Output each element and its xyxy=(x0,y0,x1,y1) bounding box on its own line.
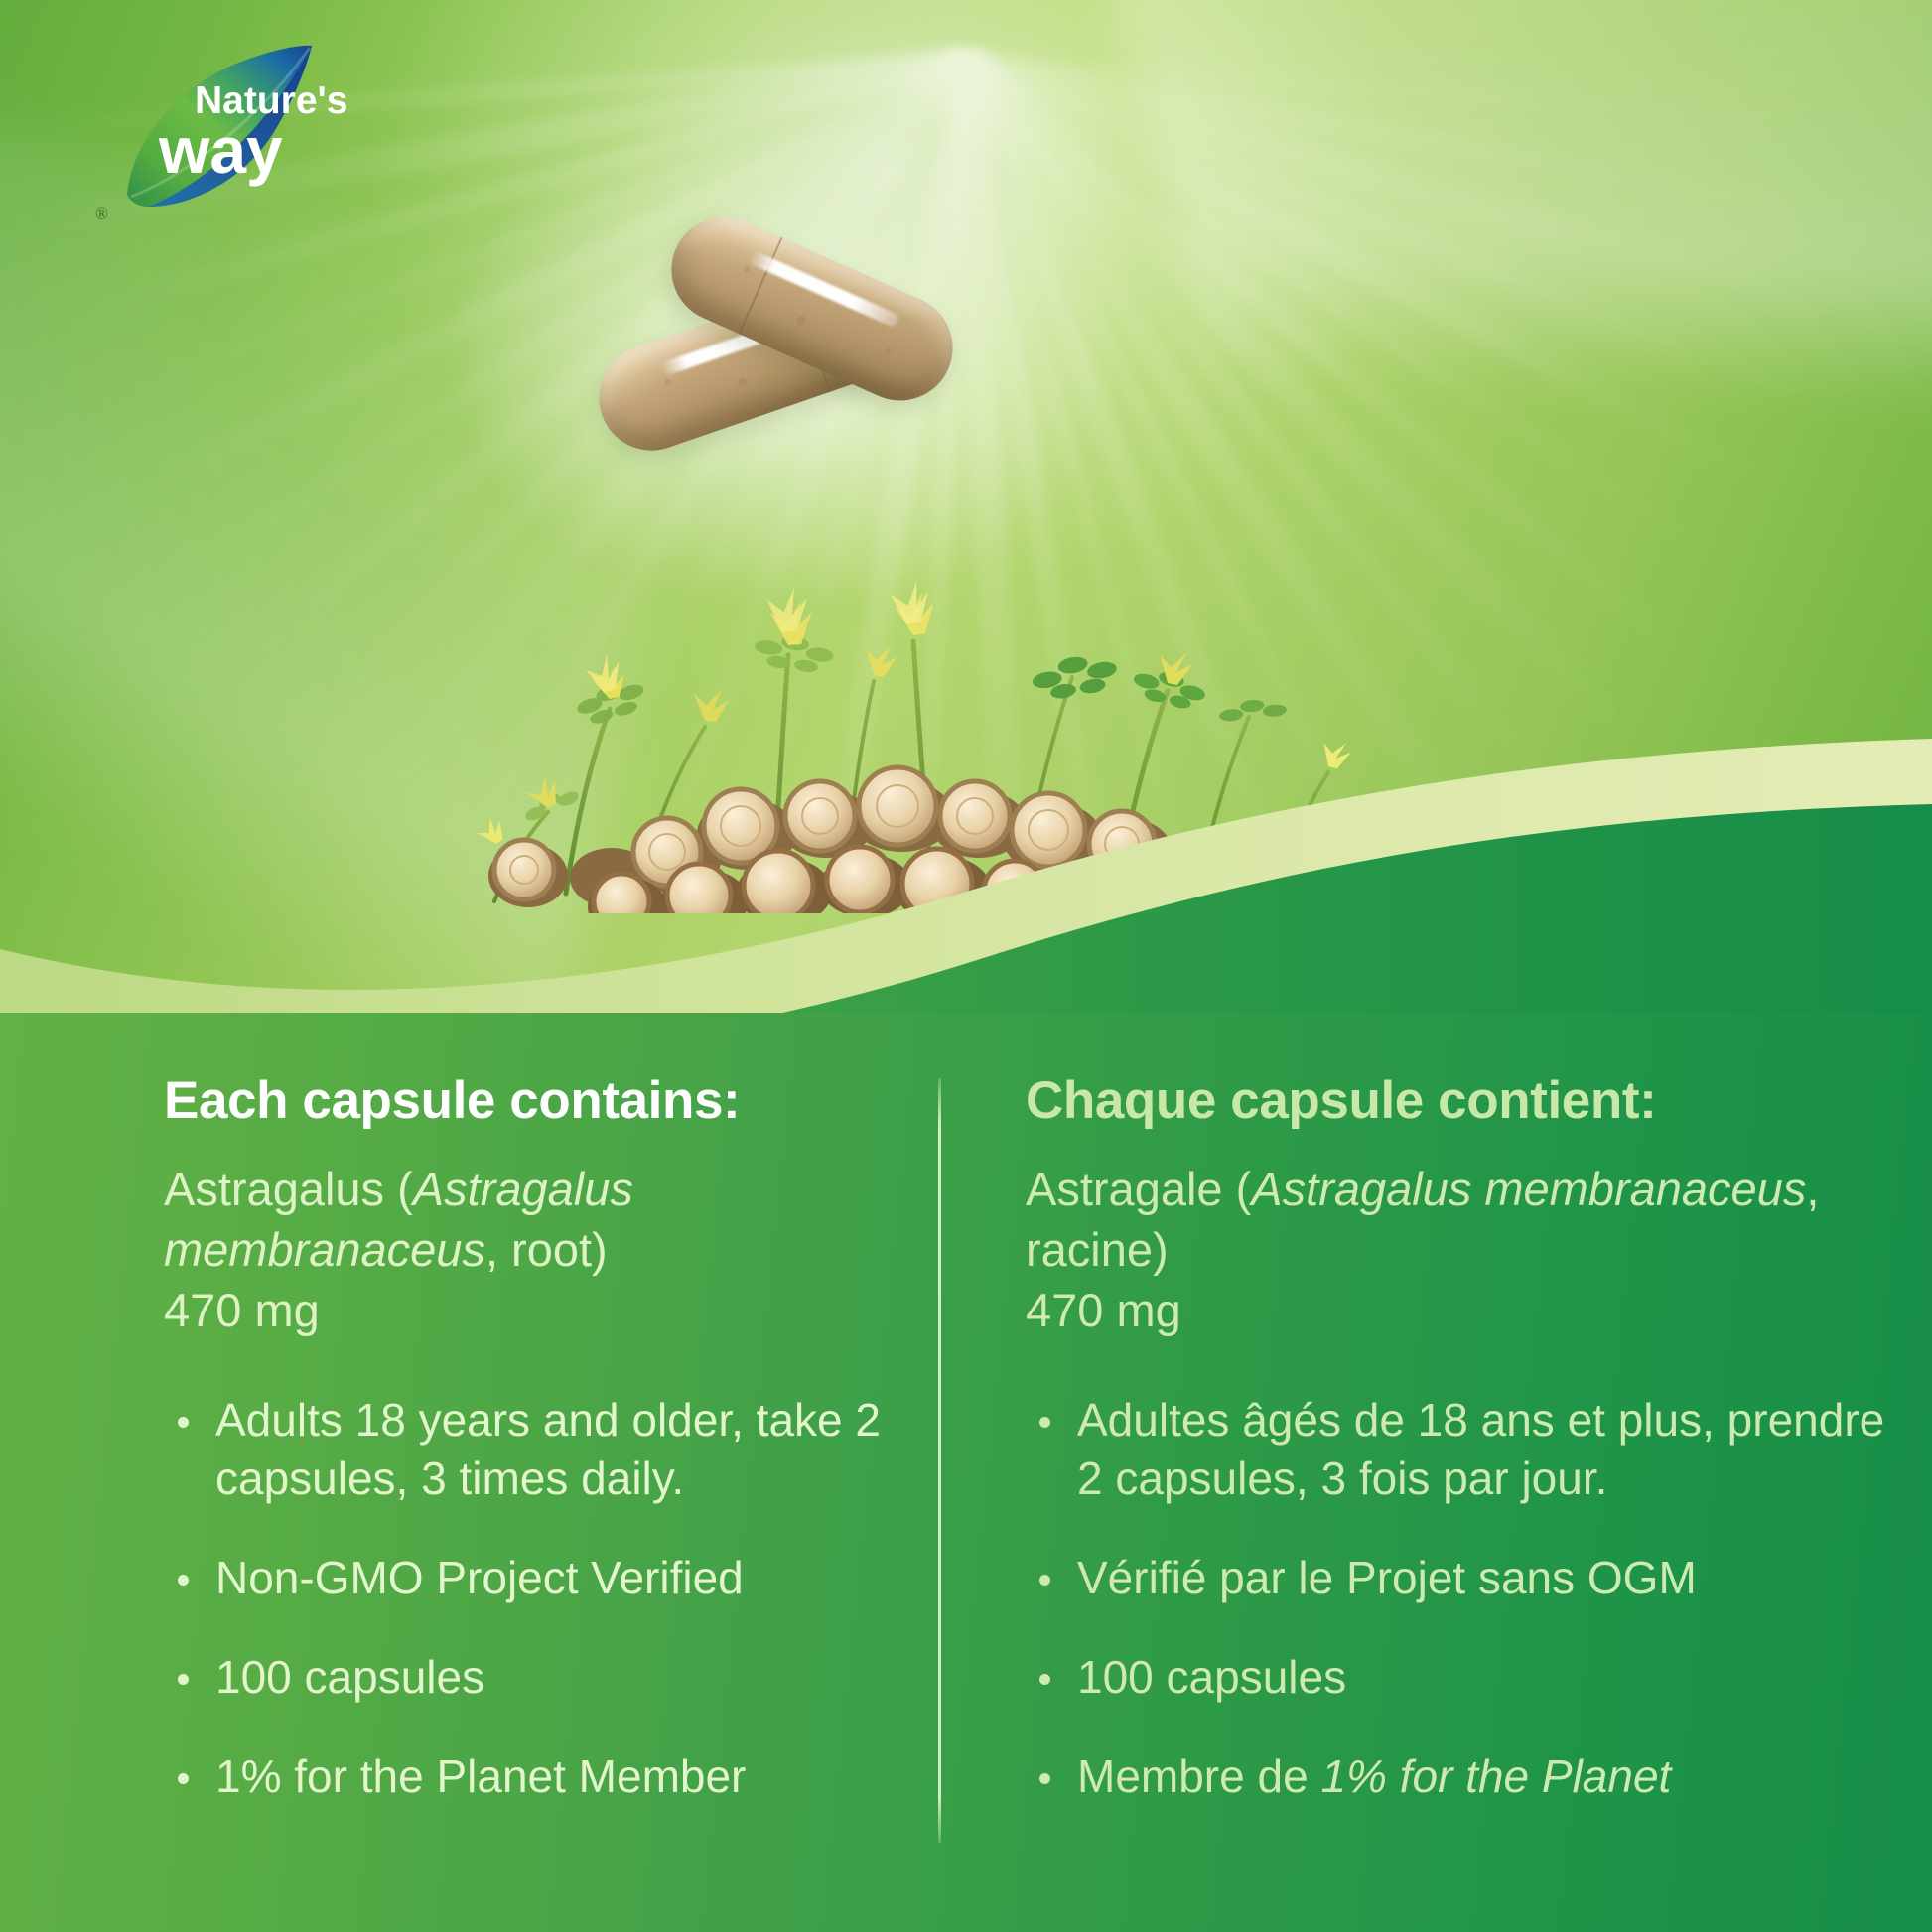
list-item: Adults 18 years and older, take 2 capsul… xyxy=(164,1391,922,1510)
product-info-graphic: Nature's way ® xyxy=(0,0,1932,1932)
ingredient-latin-fr: Astragalus membranaceus xyxy=(1251,1163,1806,1215)
ingredient-amount-en: 470 mg xyxy=(164,1284,320,1336)
ingredient-english: Astragalus (Astragalus membranaceus, roo… xyxy=(164,1159,922,1340)
list-item: Vérifié par le Projet sans OGM xyxy=(1026,1549,1888,1608)
natures-way-logo[interactable]: Nature's way ® xyxy=(87,28,385,226)
list-item: Non-GMO Project Verified xyxy=(164,1549,922,1608)
bullet-list-english: Adults 18 years and older, take 2 capsul… xyxy=(164,1391,922,1807)
ingredient-amount-fr: 470 mg xyxy=(1026,1284,1181,1336)
heading-each-capsule-contains: Each capsule contains: xyxy=(164,1072,922,1129)
bullet-last-prefix-fr: Membre de xyxy=(1077,1750,1320,1802)
list-item: Adultes âgés de 18 ans et plus, prendre … xyxy=(1026,1391,1888,1510)
ingredient-french: Astragale (Astragalus membranaceus, raci… xyxy=(1026,1159,1888,1340)
column-english: Each capsule contains: Astragalus (Astra… xyxy=(0,1013,966,1932)
capsule-pair-image xyxy=(566,218,1003,457)
ingredient-prefix-fr: Astragale ( xyxy=(1026,1163,1251,1215)
column-french: Chaque capsule contient: Astragale (Astr… xyxy=(966,1013,1932,1932)
list-item: 100 capsules xyxy=(1026,1648,1888,1708)
list-item: 1% for the Planet Member xyxy=(164,1747,922,1807)
info-panel: Each capsule contains: Astragalus (Astra… xyxy=(0,1013,1932,1932)
heading-chaque-capsule-contient: Chaque capsule contient: xyxy=(1026,1072,1888,1129)
ingredient-prefix-en: Astragalus ( xyxy=(164,1163,413,1215)
logo-text-way: way xyxy=(158,113,283,187)
list-item: Membre de 1% for the Planet xyxy=(1026,1747,1888,1807)
hero-panel: Nature's way ® xyxy=(0,0,1932,1052)
bullet-last-italic-fr: 1% for the Planet xyxy=(1320,1750,1671,1802)
registered-trademark-icon: ® xyxy=(95,205,108,224)
wave-divider xyxy=(0,695,1932,1052)
bullet-list-french: Adultes âgés de 18 ans et plus, prendre … xyxy=(1026,1391,1888,1807)
ingredient-suffix-en: , root) xyxy=(485,1223,608,1276)
list-item: 100 capsules xyxy=(164,1648,922,1708)
